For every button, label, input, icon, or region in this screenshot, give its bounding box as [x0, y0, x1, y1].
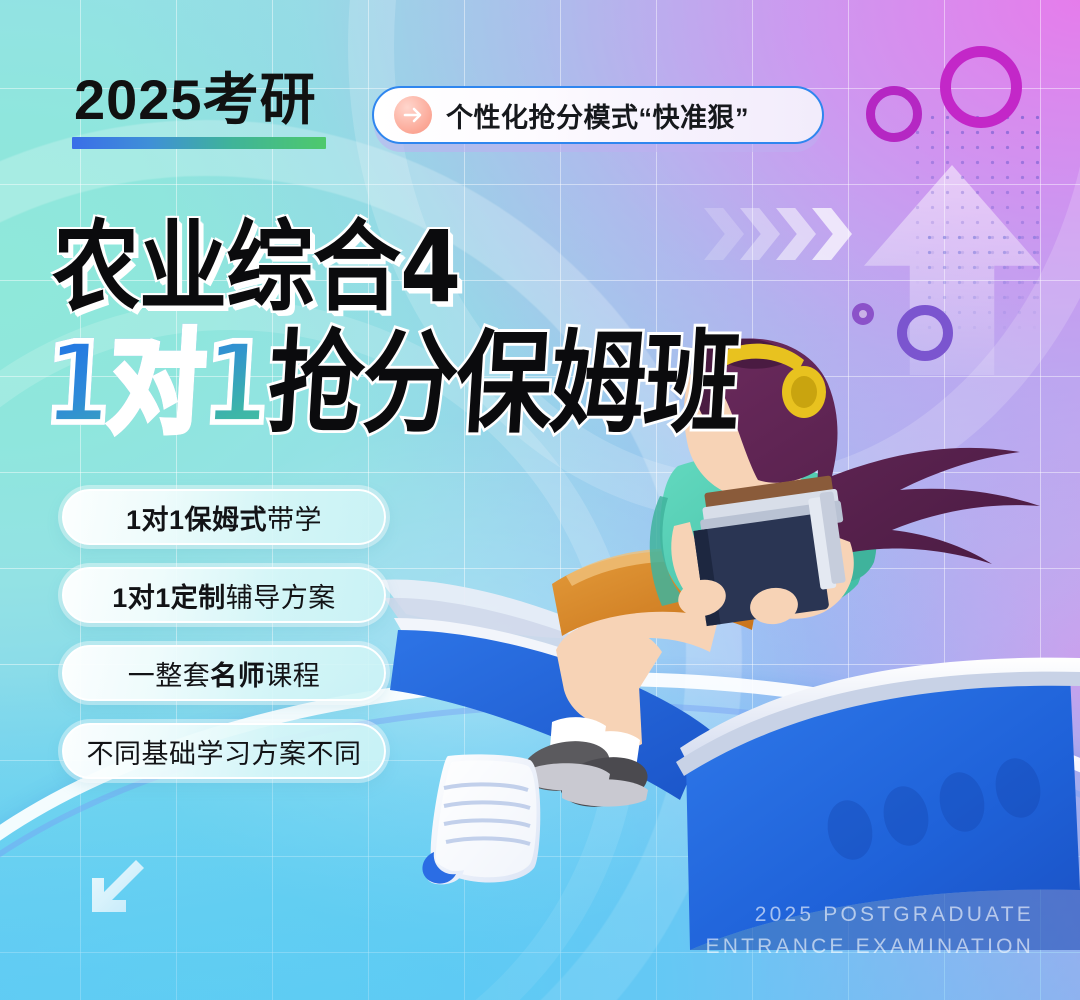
circle-ring-decoration-1 [940, 46, 1022, 128]
paper-sheet-illustration [418, 752, 618, 902]
feature-pill-3-normal-2: 课程 [265, 661, 320, 691]
feature-pill-1[interactable]: 1对1保姆式带学 [62, 489, 386, 545]
feature-pill-1-normal: 带学 [267, 505, 322, 535]
arrow-right-circle-icon [394, 96, 432, 134]
feature-pill-2[interactable]: 1对1定制辅导方案 [62, 567, 386, 623]
feature-pill-3-bold: 名师 [210, 661, 265, 691]
watermark-line-2: ENTRANCE EXAMINATION [706, 931, 1034, 964]
watermark-line-1: 2025 POSTGRADUATE [706, 899, 1034, 932]
headline-main: 1对1抢分保姆班 [40, 293, 743, 454]
headline-accent: 1对1 [41, 319, 272, 449]
feature-pill-3-normal: 一整套 [128, 661, 211, 691]
feature-pill-1-bold: 1对1保姆式 [126, 505, 267, 535]
circle-dot-decoration [852, 303, 874, 325]
feature-pill-4-normal: 不同基础学习方案不同 [87, 739, 362, 769]
poster-canvas: 2025考研 个性化抢分模式“快准狠” 农业综合4 1对1抢分保姆班 1对1保姆… [0, 0, 1080, 1000]
promo-badge[interactable]: 个性化抢分模式“快准狠” [372, 86, 824, 144]
feature-pill-2-normal: 辅导方案 [226, 583, 336, 613]
headline-main-text: 抢分保姆班 [264, 319, 742, 449]
feature-pill-list: 1对1保姆式带学 1对1定制辅导方案 一整套名师课程 不同基础学习方案不同 [62, 489, 386, 801]
arrow-down-left-icon [82, 852, 152, 922]
feature-pill-2-bold: 1对1定制 [112, 583, 226, 613]
feature-pill-4[interactable]: 不同基础学习方案不同 [62, 723, 386, 779]
watermark-text: 2025 POSTGRADUATE ENTRANCE EXAMINATION [706, 899, 1034, 964]
promo-badge-label: 个性化抢分模式“快准狠” [446, 96, 749, 135]
circle-ring-decoration-2 [866, 86, 922, 142]
kicker-underline-bar [72, 137, 326, 149]
page-kicker: 2025考研 [74, 55, 317, 136]
feature-pill-3[interactable]: 一整套名师课程 [62, 645, 386, 701]
